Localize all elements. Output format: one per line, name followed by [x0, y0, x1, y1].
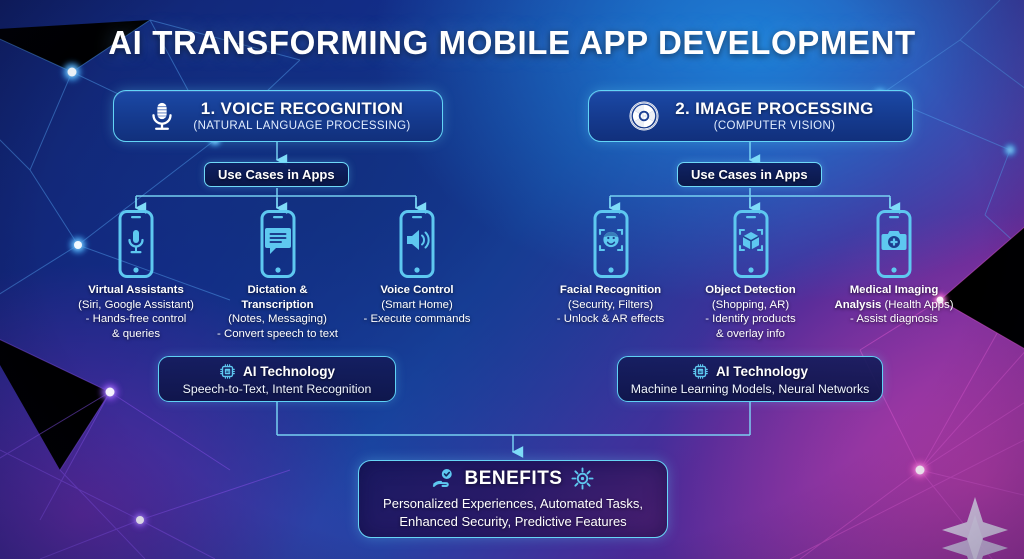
ai-chip-icon: AI	[692, 363, 709, 380]
infographic-canvas: AI TRANSFORMING MOBILE APP DEVELOPMENT	[0, 0, 1024, 559]
use-case-virtual-assistants: Virtual Assistants (Siri, Google Assista…	[60, 210, 212, 341]
ai-technology-heading: AI Technology	[243, 364, 335, 379]
section-subheading: (NATURAL LANGUAGE PROCESSING)	[193, 120, 410, 133]
section-heading: 1. VOICE RECOGNITION	[193, 99, 410, 118]
use-case-detail: - Assist diagnosis	[850, 313, 938, 325]
use-case-title-2: Analysis	[834, 299, 881, 311]
use-case-title: Medical Imaging	[850, 284, 939, 296]
benefits-line-1: Personalized Experiences, Automated Task…	[383, 496, 643, 511]
ai-technology-box-image: AI AI Technology Machine Learning Models…	[617, 356, 883, 402]
svg-text:AI: AI	[699, 369, 703, 374]
use-case-label: Medical Imaging Analysis (Health Apps) -…	[818, 283, 970, 327]
use-case-detail: - Execute commands	[364, 313, 471, 325]
use-case-context: (Shopping, AR)	[712, 299, 789, 311]
phone-chat-bubble-icon	[253, 210, 303, 278]
section-header-image-processing: 2. IMAGE PROCESSING (COMPUTER VISION)	[588, 90, 913, 142]
ai-technology-box-voice: AI AI Technology Speech-to-Text, Intent …	[158, 356, 396, 402]
phone-face-scan-icon	[586, 210, 636, 278]
use-case-context: (Siri, Google Assistant)	[78, 299, 194, 311]
use-case-detail: - Identify products	[705, 313, 796, 325]
use-case-context: (Smart Home)	[381, 299, 453, 311]
use-case-title: Virtual Assistants	[88, 284, 184, 296]
use-case-dictation-transcription: Dictation & Transcription (Notes, Messag…	[205, 210, 350, 341]
camera-aperture-icon	[627, 99, 661, 133]
use-case-title-2: Transcription	[241, 299, 313, 311]
use-case-medical-imaging: Medical Imaging Analysis (Health Apps) -…	[818, 210, 970, 327]
benefits-body: Personalized Experiences, Automated Task…	[383, 495, 643, 532]
benefits-box: BENEFITS Personalized Experiences, Autom…	[358, 460, 668, 538]
use-case-detail: - Hands-free control	[86, 313, 187, 325]
section-header-voice-recognition: 1. VOICE RECOGNITION (NATURAL LANGUAGE P…	[113, 90, 443, 142]
use-case-label: Voice Control (Smart Home) - Execute com…	[348, 283, 486, 327]
use-case-detail-2: & overlay info	[716, 328, 785, 340]
use-case-detail: - Unlock & AR effects	[557, 313, 664, 325]
phone-microphone-icon	[111, 210, 161, 278]
use-case-context: (Security, Filters)	[568, 299, 653, 311]
use-case-label: Dictation & Transcription (Notes, Messag…	[205, 283, 350, 341]
section-heading: 2. IMAGE PROCESSING	[675, 99, 873, 118]
microphone-icon	[145, 99, 179, 133]
ai-chip-icon: AI	[219, 363, 236, 380]
phone-medical-camera-icon	[869, 210, 919, 278]
phone-cube-scan-icon	[726, 210, 776, 278]
use-case-detail: - Convert speech to text	[217, 328, 338, 340]
sun-burst-icon	[571, 467, 594, 490]
page-title: AI TRANSFORMING MOBILE APP DEVELOPMENT	[0, 24, 1024, 62]
use-case-title: Dictation &	[247, 284, 307, 296]
use-cases-pill-image: Use Cases in Apps	[677, 162, 822, 187]
use-case-facial-recognition: Facial Recognition (Security, Filters) -…	[537, 210, 684, 327]
use-case-label: Facial Recognition (Security, Filters) -…	[537, 283, 684, 327]
benefits-title: BENEFITS	[465, 468, 563, 490]
use-case-label: Object Detection (Shopping, AR) - Identi…	[683, 283, 818, 341]
use-cases-pill-voice: Use Cases in Apps	[204, 162, 349, 187]
ai-technology-heading: AI Technology	[716, 364, 808, 379]
section-subheading: (COMPUTER VISION)	[675, 120, 873, 133]
use-case-context: (Notes, Messaging)	[228, 313, 327, 325]
hand-check-icon	[432, 467, 456, 491]
use-case-detail-2: & queries	[112, 328, 160, 340]
use-case-object-detection: Object Detection (Shopping, AR) - Identi…	[683, 210, 818, 341]
use-case-title: Voice Control	[380, 284, 453, 296]
phone-speaker-icon	[392, 210, 442, 278]
benefits-line-2: Enhanced Security, Predictive Features	[399, 514, 626, 529]
ai-technology-detail: Machine Learning Models, Neural Networks	[631, 382, 870, 396]
use-case-title: Facial Recognition	[560, 284, 661, 296]
use-case-context: (Health Apps)	[885, 299, 954, 311]
use-case-title: Object Detection	[705, 284, 796, 296]
use-case-label: Virtual Assistants (Siri, Google Assista…	[60, 283, 212, 341]
ai-technology-detail: Speech-to-Text, Intent Recognition	[183, 382, 372, 396]
use-case-voice-control: Voice Control (Smart Home) - Execute com…	[348, 210, 486, 327]
svg-text:AI: AI	[226, 369, 230, 374]
